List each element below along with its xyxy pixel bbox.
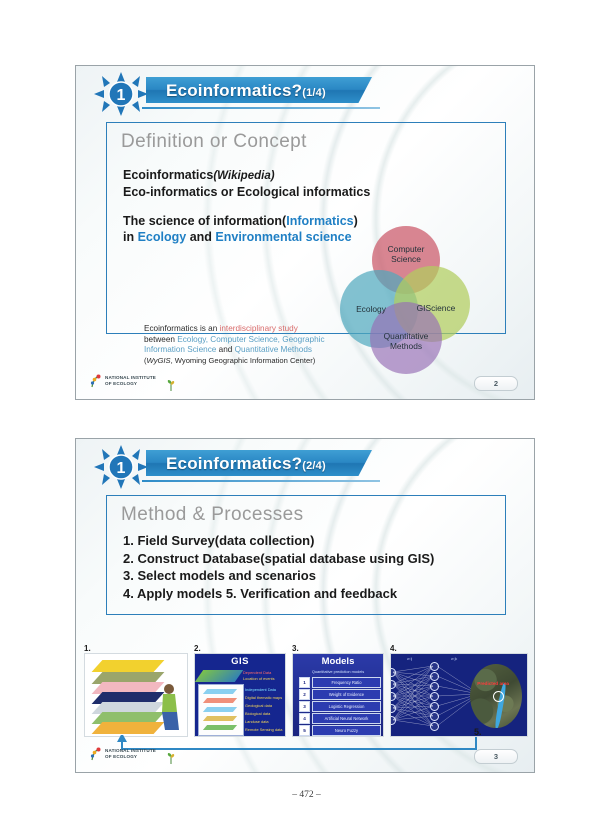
logo-mark-icon — [89, 747, 103, 762]
slide-title-text: Ecoinformatics? — [166, 454, 302, 473]
panel-label-2: 2. — [194, 644, 201, 653]
venn-label-quantitative-methods: QuantitativeMethods — [370, 331, 442, 351]
gis-dependent-title: Dependent Data — [243, 670, 271, 675]
panel-models: Models Quantitative prediction models 1 … — [292, 653, 384, 737]
models-heading: Models — [293, 656, 383, 667]
slide-header: 1 Ecoinformatics?(2/4) — [76, 439, 534, 495]
institute-logo: NATIONAL INSTITUTE OF ECOLOGY — [89, 746, 185, 764]
nn-hidden-node — [430, 722, 439, 731]
venn-label-ecology: Ecology — [340, 304, 402, 314]
definition-line-2: Eco-informatics or Ecological informatic… — [123, 184, 453, 200]
model-index: 1 — [299, 677, 310, 688]
gis-layer-stack — [198, 684, 244, 736]
logo-mark-icon — [89, 374, 103, 389]
list-item: 1. Field Survey(data collection) — [123, 532, 495, 550]
model-index: 3 — [299, 701, 310, 712]
nn-hidden-node — [430, 672, 439, 681]
slide-title-sub: (2/4) — [302, 460, 326, 472]
content-box: Method & Processes 1. Field Survey(data … — [106, 495, 506, 615]
list-item: 2. Construct Database(spatial database u… — [123, 550, 495, 568]
spacer — [123, 200, 453, 213]
nn-hidden-node — [430, 702, 439, 711]
gis-independent-title: Independent Data — [245, 687, 276, 692]
panel-label-1: 1. — [84, 644, 91, 653]
gis-independent-item: Remote Sensing data — [245, 727, 282, 732]
gis-independent-item: Digital thematic maps — [245, 695, 282, 700]
content-box-title: Method & Processes — [121, 504, 304, 526]
slide-page-number: 3 — [474, 749, 518, 764]
list-item: 3. Select models and scenarios — [123, 567, 495, 585]
logo-line-1: NATIONAL INSTITUTE — [105, 748, 156, 753]
nn-hidden-node — [430, 682, 439, 691]
slide-title-sub: (1/4) — [302, 87, 326, 99]
sun-badge-icon: 1 — [92, 72, 150, 116]
logo-line-2: OF ECOLOGY — [105, 754, 137, 759]
panel-gis: GIS Dependent Data Location of events In… — [194, 653, 286, 737]
predicted-area-label: Predicted area — [477, 681, 509, 686]
logo-line-2: OF ECOLOGY — [105, 381, 137, 386]
sun-badge-icon: 1 — [92, 445, 150, 489]
model-index: 2 — [299, 689, 310, 700]
institute-logo: NATIONAL INSTITUTE OF ECOLOGY — [89, 373, 185, 391]
slide-header: 1 Ecoinformatics?(1/4) — [76, 66, 534, 122]
river-feature — [494, 683, 507, 728]
model-name: Artificial Neural Network — [312, 713, 381, 724]
model-row: 3 Logistic Regression — [299, 701, 379, 710]
nn-hidden-node — [430, 712, 439, 721]
models-subheading: Quantitative prediction models — [293, 669, 383, 674]
gis-independent-item: Biological data — [245, 711, 270, 716]
slide-ecoinformatics-1: 1 Ecoinformatics?(1/4) Definition or Con… — [75, 65, 535, 400]
slide-number-badge: 1 — [117, 460, 126, 477]
definition-line-1: Ecoinformatics(Wikipedia) — [123, 167, 453, 184]
gis-thumbnail — [195, 670, 243, 682]
gis-independent-item: Geological data — [245, 703, 272, 708]
logo-leaf-icon — [167, 751, 175, 762]
model-index: 4 — [299, 713, 310, 724]
model-row: 4 Artificial Neural Network — [299, 713, 379, 722]
slide-page-number: 2 — [474, 376, 518, 391]
header-rule — [142, 480, 380, 482]
model-row: 5 Neuro Fuzzy — [299, 725, 379, 734]
header-rule — [142, 107, 380, 109]
feedback-label: 5. — [474, 727, 482, 737]
logo-text: NATIONAL INSTITUTE OF ECOLOGY — [105, 375, 156, 387]
gis-heading: GIS — [195, 656, 285, 667]
panel-field-survey — [84, 653, 188, 737]
panel-neural-network: w ij w jk — [390, 653, 528, 737]
nn-hidden-node — [430, 662, 439, 671]
model-name: Weight of Evidence — [312, 689, 381, 700]
document-page-footer: – 472 – — [0, 790, 613, 800]
predicted-area-marker — [493, 691, 504, 702]
model-row: 2 Weight of Evidence — [299, 689, 379, 698]
slide-number-badge: 1 — [117, 87, 126, 104]
slide-title: Ecoinformatics?(1/4) — [166, 79, 376, 103]
gis-independent-item: Landuse data — [245, 719, 269, 724]
venn-label-computer-science: ComputerScience — [374, 244, 438, 264]
venn-diagram: ComputerScience Ecology GIScience Quanti… — [340, 226, 470, 381]
satellite-map-image: Predicted area — [470, 664, 522, 728]
content-box-title: Definition or Concept — [121, 131, 307, 153]
slide-title: Ecoinformatics?(2/4) — [166, 452, 376, 476]
gis-dependent-item: Location of events — [243, 676, 275, 681]
logo-text: NATIONAL INSTITUTE OF ECOLOGY — [105, 748, 156, 760]
panel-label-3: 3. — [292, 644, 299, 653]
nn-hidden-node — [430, 692, 439, 701]
slide-title-text: Ecoinformatics? — [166, 81, 302, 100]
venn-label-giscience: GIScience — [404, 303, 468, 313]
model-name: Frequency Ratio — [312, 677, 381, 688]
process-image-strip: 1. 2. GIS Dependent Data Location of — [84, 645, 528, 740]
surveyor-figure-icon — [157, 682, 183, 732]
process-list: 1. Field Survey(data collection) 2. Cons… — [123, 532, 495, 602]
logo-line-1: NATIONAL INSTITUTE — [105, 375, 156, 380]
list-item: 4. Apply models 5. Verification and feed… — [123, 585, 495, 603]
logo-leaf-icon — [167, 378, 175, 389]
model-name: Logistic Regression — [312, 701, 381, 712]
slide-ecoinformatics-2: 1 Ecoinformatics?(2/4) Method & Processe… — [75, 438, 535, 773]
panel-label-4: 4. — [390, 644, 397, 653]
model-row: 1 Frequency Ratio — [299, 677, 379, 686]
